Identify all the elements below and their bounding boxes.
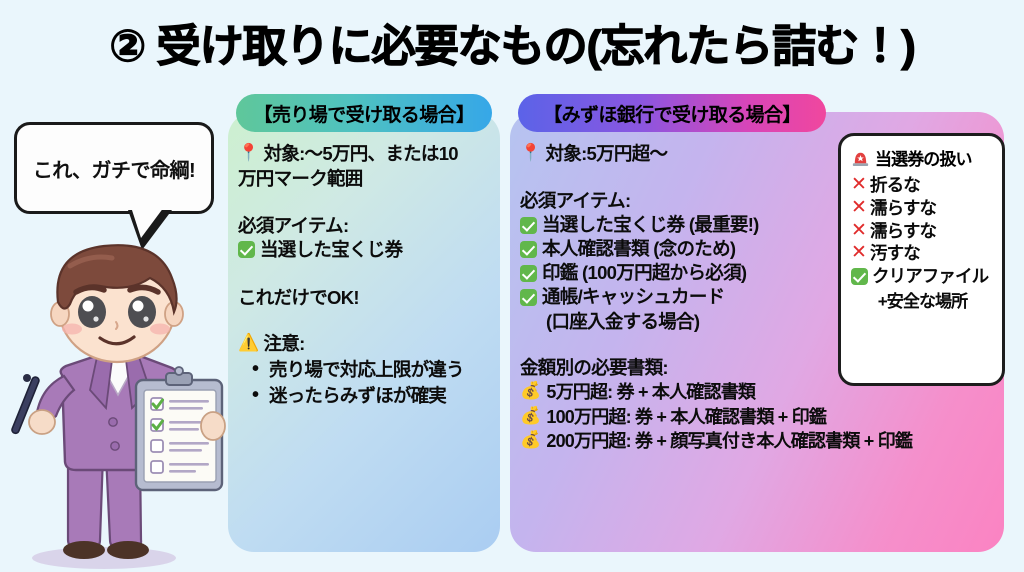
moneybag-icon: 💰 — [520, 380, 540, 402]
card-uriba-header: 【売り場で受け取る場合】 — [236, 94, 492, 132]
page-title: ② 受け取りに必要なもの(忘れたら詰む！) — [0, 10, 1024, 74]
list-item: 迷ったらみずほが確実 — [252, 383, 490, 409]
mizuho-amount-label: 100万円超: 券 + 本人確認書類 + 印鑑 — [546, 405, 826, 429]
card-uriba-header-label: 【売り場で受け取る場合】 — [254, 100, 475, 127]
uriba-target-row: 📍 対象:〜5万円、または10 — [238, 142, 490, 166]
uriba-target-line-1: 対象:〜5万円、または10 — [263, 142, 490, 166]
check-icon — [520, 217, 537, 234]
note-rule-sublabel: +安全な場所 — [851, 287, 994, 312]
mizuho-amount-row: 💰 100万円超: 券 + 本人確認書類 + 印鑑 — [520, 405, 994, 429]
siren-icon — [851, 148, 870, 167]
uriba-item-row: 当選した宝くじ券 — [238, 238, 490, 262]
mizuho-amount-label: 200万円超: 券 + 顔写真付き本人確認書類 + 印鑑 — [546, 429, 912, 453]
card-mizuho-header: 【みずほ銀行で受け取る場合】 — [518, 94, 826, 132]
card-uriba-body: 📍 対象:〜5万円、または10 万円マーク範囲 必須アイテム: 当選した宝くじ券… — [228, 142, 500, 408]
ticket-handling-note: 当選券の扱い ✕ 折るな ✕ 濡らすな ✕ 濡らすな ✕ 汚すな クリアファイル… — [838, 133, 1005, 386]
uriba-target-line-2: 万円マーク範囲 — [238, 167, 490, 191]
uriba-items-heading: 必須アイテム: — [238, 214, 490, 238]
mizuho-amount-row: 💰 200万円超: 券 + 顔写真付き本人確認書類 + 印鑑 — [520, 429, 994, 453]
infographic-canvas: ② 受け取りに必要なもの(忘れたら詰む！) これ、ガチで命綱! — [0, 0, 1024, 572]
check-icon — [520, 241, 537, 258]
note-rule-row: ✕ 折るな — [851, 174, 994, 197]
note-rule-label: 折るな — [870, 174, 920, 196]
note-rule-label: 濡らすな — [870, 220, 936, 242]
check-icon — [520, 289, 537, 306]
cross-icon: ✕ — [851, 197, 866, 220]
uriba-caution-heading: 注意: — [263, 332, 490, 356]
uriba-item-label: 当選した宝くじ券 — [260, 238, 490, 262]
mizuho-amount-label: 5万円超: 券 + 本人確認書類 — [546, 380, 755, 404]
uriba-ok-note: これだけでOK! — [238, 286, 490, 310]
check-icon — [851, 268, 868, 285]
note-title-label: 当選券の扱い — [875, 145, 972, 170]
speech-bubble: これ、ガチで命綱! — [14, 122, 214, 214]
cross-icon: ✕ — [851, 174, 866, 197]
warning-icon: ⚠️ — [238, 332, 258, 354]
note-rule-label: 汚すな — [870, 242, 920, 264]
moneybag-icon: 💰 — [520, 429, 540, 451]
note-rule-row: クリアファイル — [851, 265, 994, 287]
check-icon — [238, 241, 255, 258]
note-rule-row: ✕ 濡らすな — [851, 197, 994, 220]
note-rule-row: ✕ 濡らすな — [851, 220, 994, 243]
note-title-row: 当選券の扱い — [851, 145, 994, 170]
list-item: 売り場で対応上限が違う — [252, 357, 490, 383]
card-mizuho-header-label: 【みずほ銀行で受け取る場合】 — [543, 100, 801, 127]
character-illustration — [0, 230, 232, 572]
pin-icon: 📍 — [238, 142, 258, 164]
cross-icon: ✕ — [851, 242, 866, 265]
cross-icon: ✕ — [851, 220, 866, 243]
uriba-caution-list: 売り場で対応上限が違う 迷ったらみずほが確実 — [238, 357, 490, 408]
check-icon — [520, 265, 537, 282]
note-rule-label: クリアファイル — [872, 265, 988, 287]
note-rule-row: ✕ 汚すな — [851, 242, 994, 265]
note-rule-label: 濡らすな — [870, 197, 936, 219]
moneybag-icon: 💰 — [520, 405, 540, 427]
pin-icon: 📍 — [520, 142, 540, 164]
card-uriba: 【売り場で受け取る場合】 📍 対象:〜5万円、または10 万円マーク範囲 必須ア… — [228, 112, 500, 552]
character-area: これ、ガチで命綱! — [0, 118, 232, 572]
speech-bubble-text: これ、ガチで命綱! — [33, 154, 195, 183]
uriba-caution-row: ⚠️ 注意: — [238, 332, 490, 356]
